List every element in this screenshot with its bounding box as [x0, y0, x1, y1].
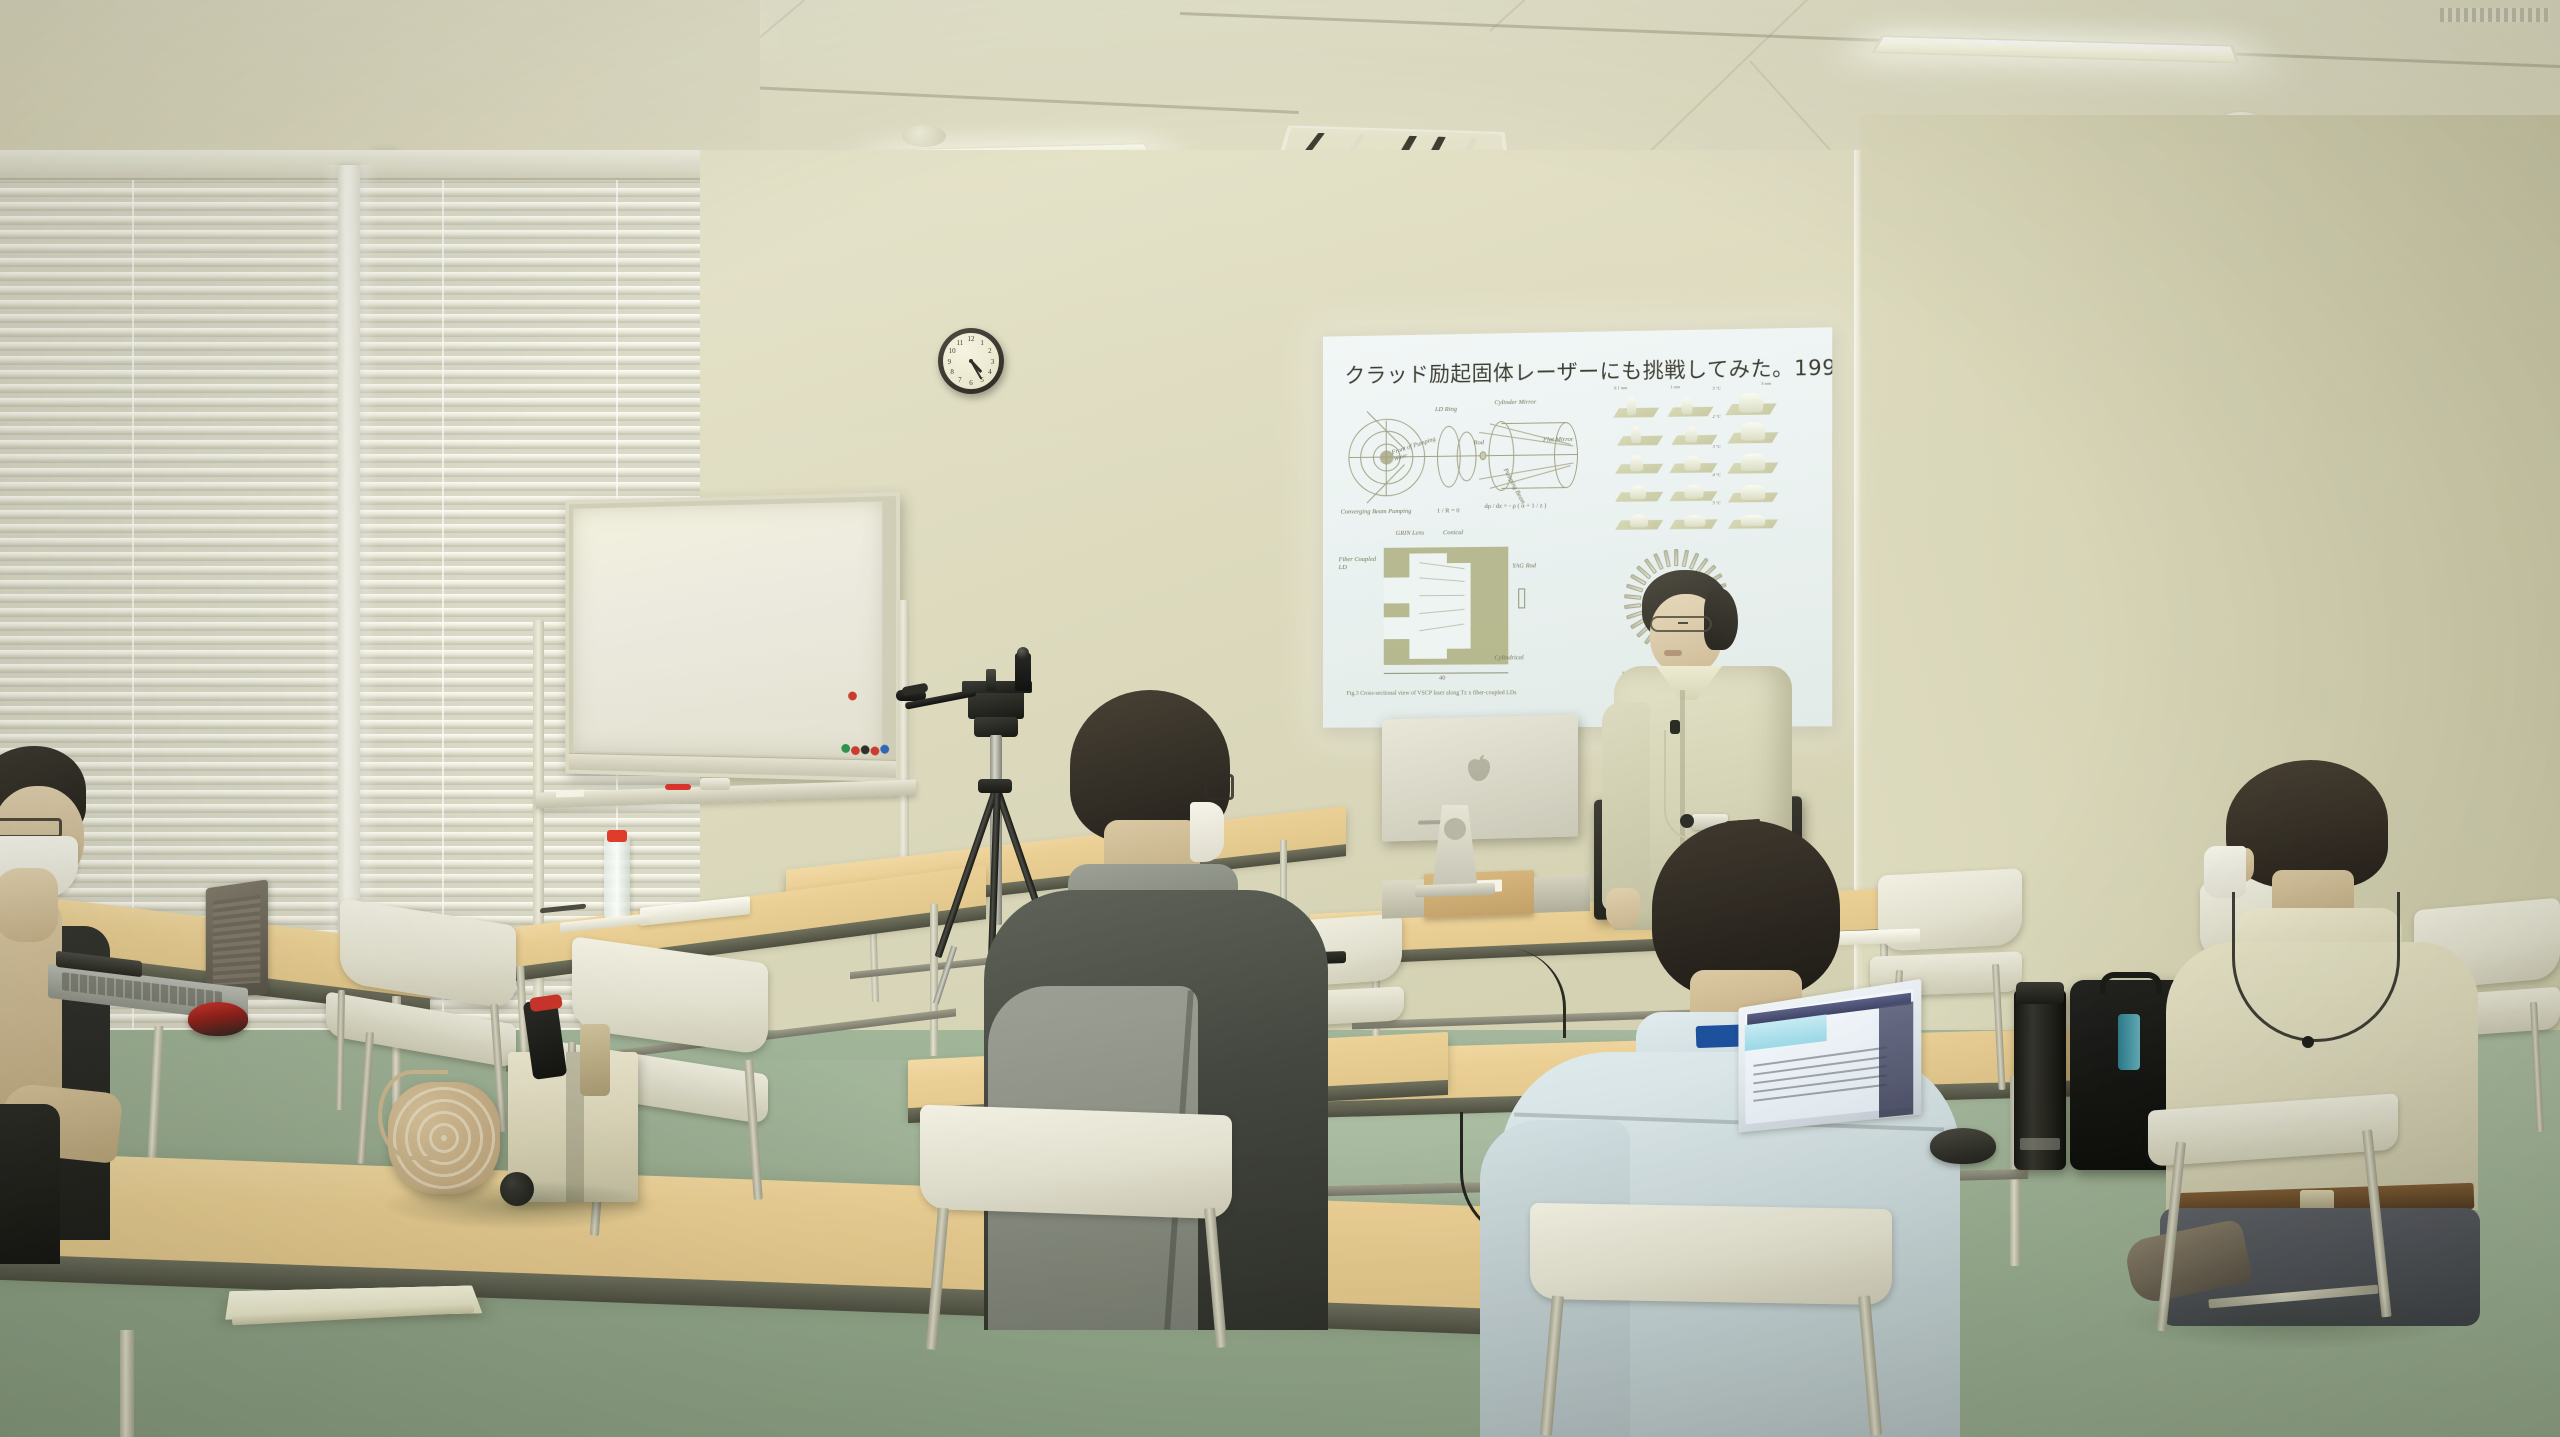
backpack-handle: [2100, 972, 2162, 994]
chair-leg: [336, 990, 345, 1110]
whiteboard-magnet[interactable]: [880, 745, 889, 754]
slide-title: クラッド励起固体レーザーにも挑戦してみた。1991: [1345, 351, 1833, 390]
beam-profile-plot: [1672, 476, 1714, 505]
clock-numeral: 12: [968, 335, 975, 343]
attendee-left-hand: [0, 868, 58, 942]
whiteboard-label: [556, 790, 584, 798]
clock-numeral: 4: [988, 368, 992, 376]
whiteboard-magnet[interactable]: [848, 691, 857, 700]
beam-profile-plot: [1672, 448, 1714, 477]
face-mask-icon: [2204, 846, 2246, 898]
ceiling-bracket: [2440, 8, 2550, 22]
presenter-glasses-icon: [1650, 616, 1712, 632]
neck-strap-clip[interactable]: [2302, 1036, 2314, 1048]
label-flat-mirror: Flat Mirror: [1543, 436, 1573, 443]
beam-profile-grid: 0.1 mm 1 mm 5 °C 2 °C 3 °C 4 °C 5 °C 3 m…: [1612, 387, 1785, 542]
clock-numeral: 8: [950, 368, 954, 376]
beam-profile-plot: [1672, 504, 1714, 533]
clock-numeral: 7: [958, 376, 962, 384]
label-temp-5c-b: 5 °C: [1713, 500, 1721, 505]
chair-leg: [1858, 1295, 1882, 1436]
label-temp-3c: 3 °C: [1713, 444, 1721, 449]
chair-leg: [926, 1208, 949, 1350]
xsec-cavity: [1409, 553, 1446, 659]
clock-numeral: 6: [969, 379, 973, 387]
attendee-left-glasses-icon: [0, 818, 62, 838]
beam-profile-plot: [1731, 447, 1776, 478]
chair-occupied-front[interactable]: [1530, 1206, 1900, 1436]
presenter-glasses-bridge: [1678, 622, 1688, 624]
label-conical: Conical: [1443, 529, 1463, 536]
equation-1: 1 / R = 0: [1437, 507, 1460, 514]
label-temp-4c: 4 °C: [1713, 472, 1721, 477]
chair-leg: [1540, 1295, 1564, 1436]
xsec-yag-rod: [1518, 588, 1525, 608]
laptop-left-screen-content: [213, 895, 261, 986]
whiteboard-surface[interactable]: [573, 501, 882, 757]
label-scale-3mm: 3 mm: [1761, 381, 1771, 386]
whiteboard-magnet[interactable]: [871, 746, 880, 755]
whiteboard-magnet[interactable]: [851, 746, 860, 755]
chair-leg: [1204, 1208, 1227, 1348]
xsec-cavity: [1447, 563, 1471, 649]
label-grin-lens: GRIN Lens: [1396, 530, 1425, 537]
xsec-gap: [1384, 577, 1414, 603]
clock-numeral: 11: [957, 339, 964, 347]
apple-logo-icon: [1468, 755, 1490, 782]
beam-profile-plot: [1618, 505, 1660, 534]
beam-profile-plot: [1620, 421, 1660, 450]
clock-numeral: 9: [948, 358, 952, 366]
beam-profile-plot: [1731, 417, 1776, 448]
seminar-room-photo: クラッド励起固体レーザーにも挑戦してみた。1991 LD Ring: [0, 0, 2560, 1437]
label-dimension-40: 40: [1439, 675, 1445, 682]
equation-2: dρ / dz = - ρ ( α + 1 / z ): [1484, 502, 1546, 510]
presenter-mouth: [1664, 650, 1682, 656]
beam-profile-plot: [1670, 392, 1710, 421]
label-scale-1mm: 1 mm: [1670, 384, 1680, 389]
beam-profile-plot: [1618, 477, 1660, 506]
label-fiber-coupled-ld: Fiber Coupled LD: [1339, 556, 1382, 572]
xsec-gap: [1384, 617, 1414, 639]
face-mask-icon: [1190, 802, 1224, 862]
clock-numeral: 1: [980, 339, 984, 347]
bottle-cap-icon: [607, 830, 627, 842]
beam-profile-plot: [1729, 387, 1774, 420]
chair-backrest: [920, 1105, 1232, 1220]
mouse-red[interactable]: [188, 1002, 248, 1036]
beam-profile-plot: [1731, 506, 1776, 533]
chair-occupied-center[interactable]: [920, 1110, 1240, 1340]
clock-face: 12 1 2 3 4 5 6 7 8 9 10 11: [943, 333, 998, 388]
whiteboard-stand-left: [533, 620, 544, 1050]
chair-backrest: [1530, 1203, 1892, 1305]
laptop-front-sidebar: [1879, 1001, 1913, 1117]
imac-stand-hole: [1444, 818, 1466, 840]
plastic-water-bottle[interactable]: [604, 836, 630, 920]
chair-foreground-back[interactable]: [0, 1104, 60, 1264]
clock-numeral: 3: [991, 358, 995, 366]
beam-profile-plot: [1731, 478, 1776, 507]
table-leg: [120, 1330, 134, 1437]
label-temp-5c: 5 °C: [1713, 386, 1721, 391]
whiteboard-magnet[interactable]: [841, 744, 850, 753]
label-yag-rod: YAG Rod: [1512, 562, 1536, 569]
floor-shadow: [380, 1180, 660, 1230]
chair-leg: [357, 1032, 374, 1164]
beam-profile-plot: [1674, 420, 1714, 449]
clock-center-pin: [969, 359, 973, 363]
label-ld-ring: LD Ring: [1435, 406, 1457, 413]
label-temp-2c: 2 °C: [1713, 414, 1721, 419]
converging-beam-pumping-diagram: LD Ring Cylinder Mirror Flat Mirror Fron…: [1341, 398, 1588, 526]
ceiling-speaker-icon: [902, 125, 946, 147]
gimbal-mount: [986, 669, 996, 691]
whiteboard-eraser[interactable]: [700, 778, 730, 790]
whiteboard-magnet[interactable]: [861, 745, 870, 754]
whiteboard-marker[interactable]: [665, 784, 691, 790]
floor-shadow: [2120, 1290, 2460, 1350]
attendee-center-glasses-icon: [1204, 774, 1234, 800]
small-bottle-blue[interactable]: [2118, 1014, 2140, 1070]
chair-seat: [2148, 1093, 2398, 1166]
clock-numeral: 2: [988, 347, 992, 355]
beam-profile-plot: [1616, 393, 1656, 422]
wall-clock: 12 1 2 3 4 5 6 7 8 9 10 11: [938, 328, 1004, 394]
label-scale-01mm: 0.1 mm: [1614, 385, 1627, 390]
figure-caption: Fig.3 Cross-sectional view of VSCP laser…: [1346, 690, 1516, 697]
water-bottle-cap[interactable]: [2016, 982, 2064, 1004]
clock-numeral: 10: [949, 347, 956, 355]
cross-section-vscp-laser: Fiber Coupled LD GRIN Lens Conical YAG R…: [1348, 532, 1576, 693]
rod-element: [1480, 451, 1487, 460]
beam-profile-plot: [1618, 449, 1660, 478]
label-cylindrical: Cylindrical: [1494, 654, 1523, 661]
label-cylinder-mirror: Cylinder Mirror: [1494, 399, 1536, 407]
water-bottle-label: [2020, 1138, 2060, 1150]
whiteboard[interactable]: [565, 492, 900, 782]
chair-backrest: [340, 898, 516, 1010]
mouse-wireless[interactable]: [1930, 1128, 1996, 1164]
label-rod: Rod: [1474, 439, 1484, 446]
rolled-item[interactable]: [580, 1024, 610, 1096]
gimbal-camera-lens-icon: [1017, 647, 1029, 659]
label-converging-beam-pumping: Converging Beam Pumping: [1341, 508, 1412, 516]
dimension-line-width: [1384, 672, 1509, 674]
patterned-bag-strap: [378, 1070, 448, 1160]
